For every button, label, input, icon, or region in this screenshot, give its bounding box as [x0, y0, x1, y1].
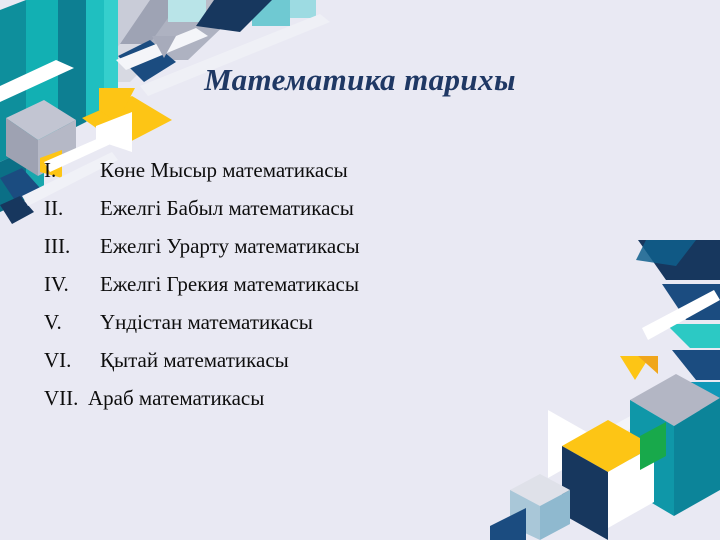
presentation-slide: Математика тарихы I. Көне Мысыр математи…	[0, 0, 720, 540]
deco-iso-cube-yellow	[562, 420, 666, 540]
deco-white-play-triangle	[548, 410, 608, 478]
list-item-numeral: II.	[44, 189, 100, 227]
list-item-label: Қытай математикасы	[100, 341, 289, 379]
list-item: I. Көне Мысыр математикасы	[44, 151, 604, 189]
list-item: II. Ежелгі Бабыл математикасы	[44, 189, 604, 227]
list-item-numeral: I.	[44, 151, 100, 189]
list-item: V. Үндістан математикасы	[44, 303, 604, 341]
list-item-label: Араб математикасы	[88, 379, 264, 417]
deco-yellow-small-triangle	[620, 356, 658, 380]
list-item: VII. Араб математикасы	[44, 379, 604, 417]
list-item-label: Үндістан математикасы	[100, 303, 313, 341]
deco-white-diagonal-streak	[586, 290, 720, 482]
deco-navy-bottom-left-shard	[490, 508, 526, 540]
list-item: III. Ежелгі Урарту математикасы	[44, 227, 604, 265]
list-item-label: Ежелгі Грекия математикасы	[100, 265, 359, 303]
list-item-numeral: IV.	[44, 265, 100, 303]
list-item-label: Көне Мысыр математикасы	[100, 151, 348, 189]
list-item-label: Ежелгі Урарту математикасы	[100, 227, 360, 265]
list-item-numeral: VI.	[44, 341, 100, 379]
list-item-label: Ежелгі Бабыл математикасы	[100, 189, 354, 227]
slide-title: Математика тарихы	[0, 62, 720, 98]
deco-cyan-top-blocks	[168, 0, 316, 26]
list-item-numeral: VII.	[44, 379, 88, 417]
contents-list: I. Көне Мысыр математикасы II. Ежелгі Ба…	[44, 151, 604, 417]
list-item-numeral: V.	[44, 303, 100, 341]
deco-iso-cube-teal	[630, 374, 720, 516]
list-item: IV. Ежелгі Грекия математикасы	[44, 265, 604, 303]
deco-grey-small-triangle	[152, 36, 176, 58]
deco-right-chevrons	[636, 240, 720, 410]
list-item-numeral: III.	[44, 227, 100, 265]
list-item: VI. Қытай математикасы	[44, 341, 604, 379]
deco-iso-cube-small-grey	[510, 474, 570, 540]
